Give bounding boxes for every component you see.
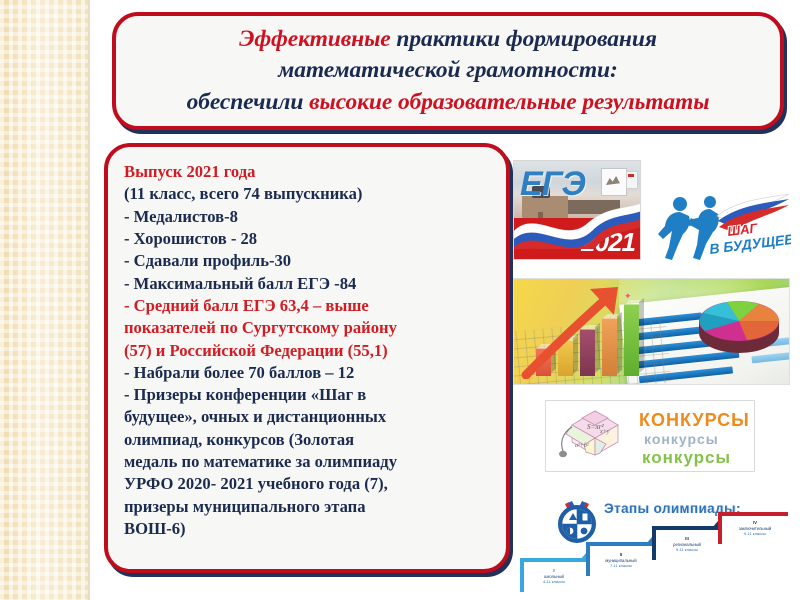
results-text: Выпуск 2021 года (11 класс, всего 74 вып… <box>124 161 494 540</box>
olympiad-stages-diagram: Этапы олимпиады: I школьный 4-11 классы … <box>520 498 795 596</box>
ege-label: ЕГЭ <box>520 167 585 201</box>
title-line2: математической грамотности: <box>278 57 617 83</box>
results-line-15: УРФО 2020- 2021 учебного года (7), <box>124 473 494 495</box>
stage-step-2: II муниципальный 7-11 классы <box>586 542 652 576</box>
konkursy-word-2: конкурсы <box>644 431 719 447</box>
decorative-left-strip <box>0 0 88 600</box>
polygon-graduation-cap-icon: S=πr² a²+b² x+y <box>554 407 636 467</box>
vsosh-emblem-icon <box>555 500 599 544</box>
results-line-2: (11 класс, всего 74 выпускника) <box>124 183 494 205</box>
title-line1-rest: практики формирования <box>391 26 657 52</box>
results-line-10: - Набрали более 70 баллов – 12 <box>124 362 494 384</box>
results-line-14: медаль по математике за олимпиаду <box>124 451 494 473</box>
results-line-9: (57) и Российской Федерации (55,1) <box>124 340 494 362</box>
stage-step-1: I школьный 4-11 классы <box>520 558 586 592</box>
results-textbox: Выпуск 2021 года (11 класс, всего 74 вып… <box>104 143 510 573</box>
pie-chart-3d <box>687 287 790 361</box>
page-title: Эффективные практики формирования матема… <box>171 24 726 118</box>
shag-v-budushchee-logo: ШАГ В БУДУЩЕЕ <box>655 190 791 264</box>
growth-arrow-icon <box>520 283 650 379</box>
title-line1-accent: Эффективные <box>239 26 391 52</box>
results-line-1: Выпуск 2021 года <box>124 161 494 183</box>
results-line-8: показателей по Сургутскому району <box>124 317 494 339</box>
business-statistics-photo: ✦ ✦ ✦ <box>513 278 790 385</box>
ege-2021-poster: ЕГЭ 2021 <box>513 160 641 260</box>
results-line-6: - Максимальный балл ЕГЭ -84 <box>124 273 494 295</box>
results-line-12: будущее», очных и дистанционных <box>124 406 494 428</box>
title-line3-dark: обеспечили <box>187 89 310 115</box>
konkursy-banner: S=πr² a²+b² x+y КОНКУРСЫ конкурсы конкур… <box>545 400 755 472</box>
decorative-strip-edge <box>88 0 90 600</box>
results-line-4: - Хорошистов - 28 <box>124 228 494 250</box>
results-line-17: ВОШ-6) <box>124 518 494 540</box>
title-banner: Эффективные практики формирования матема… <box>112 12 784 130</box>
svg-text:a²+b²: a²+b² <box>575 443 589 449</box>
svg-text:x+y: x+y <box>599 429 610 435</box>
stage-4-grades: 9-11 классы <box>726 531 784 536</box>
title-line3-accent: высокие образовательные результаты <box>309 89 709 115</box>
konkursy-word-1: КОНКУРСЫ <box>639 410 750 431</box>
results-line-11: - Призеры конференции «Шаг в <box>124 384 494 406</box>
stage-step-3: III региональный 9-11 классы <box>652 526 718 560</box>
russian-flag-ribbon-icon <box>514 201 641 249</box>
results-line-13: олимпиад, конкурсов (Золотая <box>124 429 494 451</box>
konkursy-word-3: конкурсы <box>642 448 731 468</box>
stage-1-grades: 4-11 классы <box>528 579 580 584</box>
results-line-5: - Сдавали профиль-30 <box>124 250 494 272</box>
results-line-3: - Медалистов-8 <box>124 206 494 228</box>
stage-2-grades: 7-11 классы <box>594 563 648 568</box>
wall-poster-icon <box>601 168 627 196</box>
results-line-16: призеры муниципального этапа <box>124 496 494 518</box>
results-line-7: - Средний балл ЕГЭ 63,4 – выше <box>124 295 494 317</box>
stage-3-grades: 9-11 классы <box>660 547 714 552</box>
stage-step-4: IV заключительный 9-11 классы <box>718 512 788 544</box>
wall-notice-icon <box>626 171 638 189</box>
